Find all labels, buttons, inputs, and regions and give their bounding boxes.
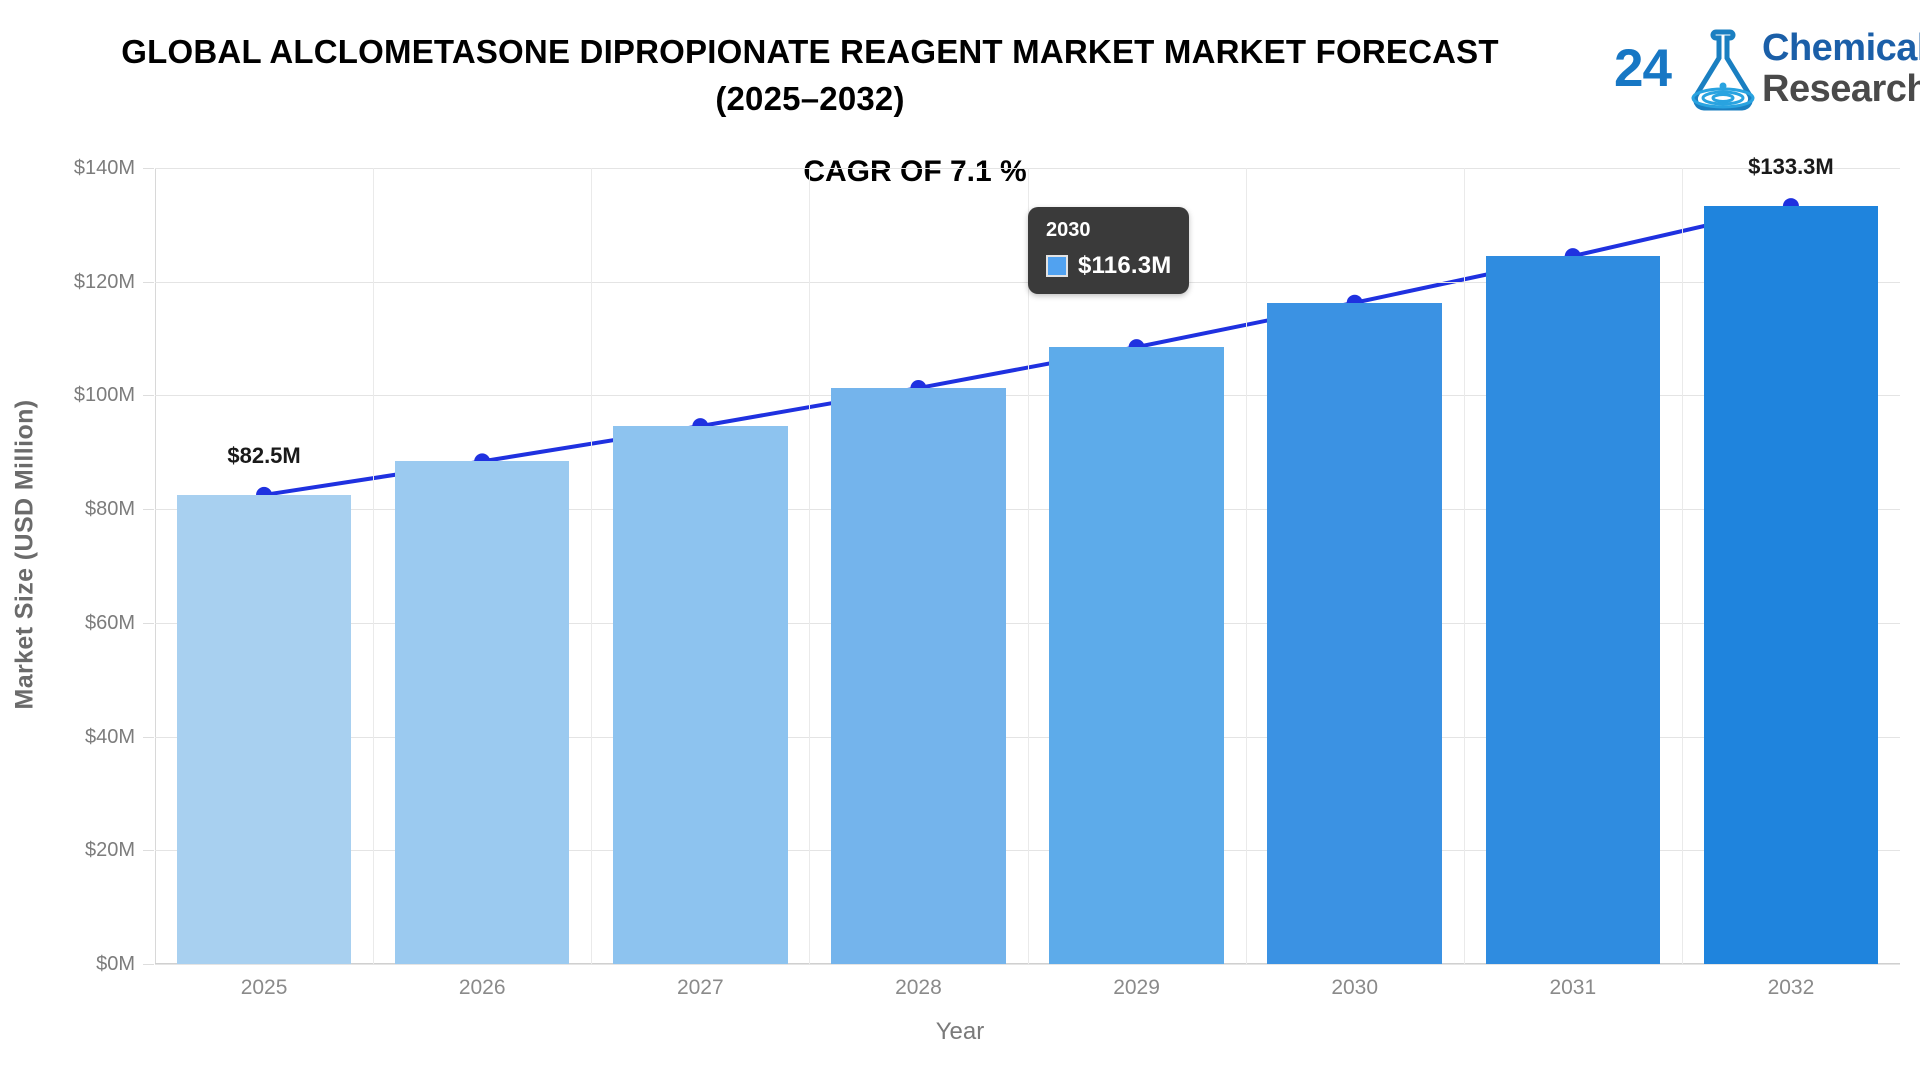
x-axis-tick-label: 2027	[677, 976, 724, 1000]
x-gridline	[591, 168, 592, 964]
y-axis-tick-mark	[143, 509, 154, 510]
bar[interactable]	[1486, 256, 1661, 964]
y-axis-tick-mark	[143, 168, 154, 169]
chart-page: GLOBAL ALCLOMETASONE DIPROPIONATE REAGEN…	[0, 0, 1920, 1080]
x-axis-tick-label: 2025	[241, 976, 288, 1000]
y-axis-tick-label: $20M	[15, 839, 135, 862]
tooltip: 2030 $116.3M	[1028, 207, 1189, 294]
bar[interactable]	[613, 426, 788, 964]
bar[interactable]	[1704, 206, 1879, 964]
bar[interactable]	[177, 495, 352, 964]
y-axis-tick-label: $80M	[15, 498, 135, 521]
x-gridline	[1682, 168, 1683, 964]
bar[interactable]	[831, 388, 1006, 964]
y-axis-tick-label: $40M	[15, 726, 135, 749]
y-axis-tick-mark	[143, 282, 154, 283]
bar[interactable]	[1267, 303, 1442, 964]
bar[interactable]	[1049, 347, 1224, 964]
bar-value-label: $82.5M	[227, 443, 300, 469]
x-gridline	[1246, 168, 1247, 964]
x-axis-tick-label: 2032	[1768, 976, 1815, 1000]
x-gridline	[373, 168, 374, 964]
chart-container: Market Size (USD Million) Year $0M$20M$4…	[0, 0, 1920, 1080]
bar-value-label: $133.3M	[1748, 154, 1834, 180]
y-axis-tick-mark	[143, 850, 154, 851]
x-gridline	[809, 168, 810, 964]
y-axis-tick-label: $100M	[15, 384, 135, 407]
x-axis-tick-label: 2030	[1331, 976, 1378, 1000]
y-axis-tick-mark	[143, 737, 154, 738]
x-axis-tick-label: 2029	[1113, 976, 1160, 1000]
x-axis-tick-label: 2028	[895, 976, 942, 1000]
y-axis-tick-label: $0M	[15, 953, 135, 976]
y-axis-tick-mark	[143, 623, 154, 624]
x-axis-title: Year	[0, 1018, 1920, 1046]
y-axis-tick-mark	[143, 395, 154, 396]
y-axis-tick-mark	[143, 964, 154, 965]
y-axis-tick-label: $120M	[15, 271, 135, 294]
plot-area: $0M$20M$40M$60M$80M$100M$120M$140M202520…	[155, 168, 1900, 964]
y-gridline	[155, 964, 1900, 965]
x-gridline	[1464, 168, 1465, 964]
tooltip-title: 2030	[1046, 219, 1171, 242]
tooltip-value: $116.3M	[1078, 252, 1171, 280]
x-axis-tick-label: 2026	[459, 976, 506, 1000]
bar[interactable]	[395, 461, 570, 964]
y-axis-tick-label: $140M	[15, 157, 135, 180]
tooltip-series-swatch-icon	[1046, 255, 1068, 277]
tooltip-row: $116.3M	[1046, 252, 1171, 280]
x-axis-tick-label: 2031	[1549, 976, 1596, 1000]
y-axis-tick-label: $60M	[15, 612, 135, 635]
y-axis-title: Market Size (USD Million)	[11, 345, 40, 765]
